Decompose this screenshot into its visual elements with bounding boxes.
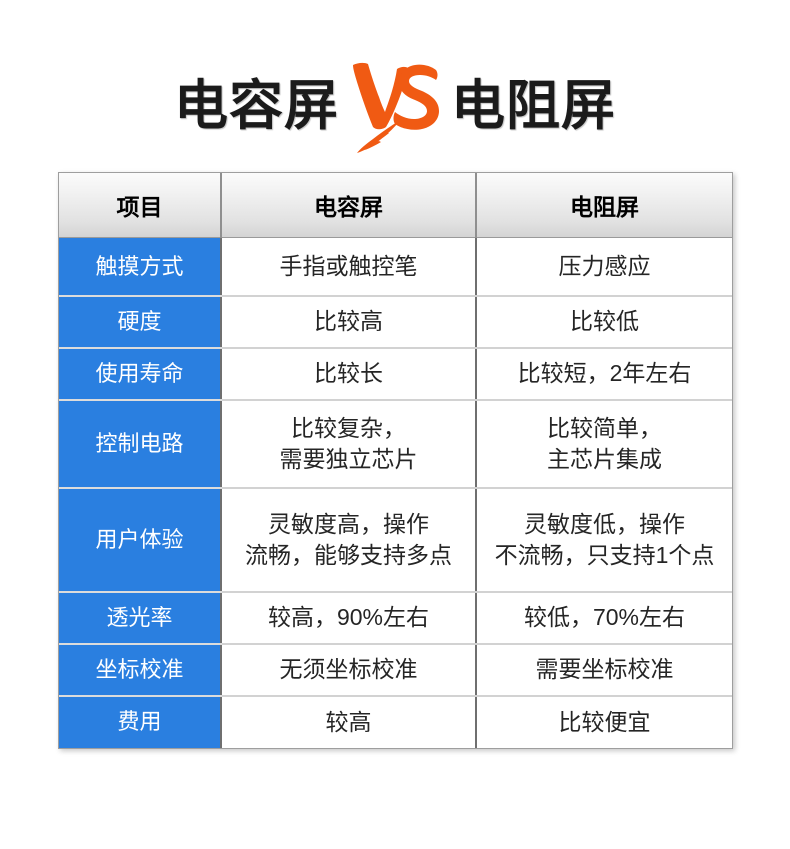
- table-row: 硬度 比较高 比较低: [59, 296, 732, 348]
- row-label: 费用: [59, 696, 221, 748]
- cell-resistive-text: 灵敏度低，操作 不流畅，只支持1个点: [477, 509, 732, 570]
- column-header-item: 项目: [59, 173, 221, 238]
- row-label-text: 使用寿命: [59, 359, 220, 388]
- row-label: 用户体验: [59, 488, 221, 592]
- cell-resistive-text: 较低，70%左右: [477, 602, 732, 632]
- row-label: 硬度: [59, 296, 221, 348]
- cell-capacitive: 无须坐标校准: [221, 644, 476, 696]
- cell-capacitive-text: 比较长: [222, 358, 475, 388]
- cell-resistive-text: 比较低: [477, 306, 732, 336]
- cell-resistive: 压力感应: [476, 238, 732, 296]
- table-row: 触摸方式 手指或触控笔 压力感应: [59, 238, 732, 296]
- row-label-text: 硬度: [59, 307, 220, 336]
- table-row: 费用 较高 比较便宜: [59, 696, 732, 748]
- comparison-infographic: 电容屏 电阻屏: [0, 0, 790, 849]
- cell-resistive-text: 比较短，2年左右: [477, 358, 732, 388]
- row-label-text: 用户体验: [59, 525, 220, 554]
- cell-resistive: 灵敏度低，操作 不流畅，只支持1个点: [476, 488, 732, 592]
- column-header-resistive: 电阻屏: [476, 173, 732, 238]
- table-row: 控制电路 比较复杂， 需要独立芯片 比较简单， 主芯片集成: [59, 400, 732, 488]
- cell-capacitive-text: 比较复杂， 需要独立芯片: [222, 413, 475, 474]
- row-label-text: 透光率: [59, 603, 220, 632]
- cell-capacitive-text: 灵敏度高，操作 流畅，能够支持多点: [222, 509, 475, 570]
- comparison-table: 项目 电容屏 电阻屏 触摸方式 手指或触控笔 压力感应: [59, 173, 732, 748]
- row-label-text: 坐标校准: [59, 655, 220, 684]
- cell-resistive-text: 比较便宜: [477, 707, 732, 737]
- table-header-row: 项目 电容屏 电阻屏: [59, 173, 732, 238]
- cell-resistive-text: 压力感应: [477, 251, 732, 281]
- cell-capacitive: 比较高: [221, 296, 476, 348]
- vs-icon: [343, 54, 447, 158]
- table-body: 触摸方式 手指或触控笔 压力感应 硬度 比较高: [59, 238, 732, 748]
- cell-capacitive-text: 无须坐标校准: [222, 654, 475, 684]
- row-label: 触摸方式: [59, 238, 221, 296]
- title-right-term: 电阻屏: [451, 79, 616, 133]
- cell-capacitive-text: 较高，90%左右: [222, 602, 475, 632]
- cell-capacitive-text: 较高: [222, 707, 475, 737]
- cell-resistive: 比较短，2年左右: [476, 348, 732, 400]
- cell-capacitive: 比较长: [221, 348, 476, 400]
- column-header-capacitive: 电容屏: [221, 173, 476, 238]
- cell-capacitive: 较高，90%左右: [221, 592, 476, 644]
- cell-resistive: 比较简单， 主芯片集成: [476, 400, 732, 488]
- row-label-text: 控制电路: [59, 429, 220, 458]
- table-row: 用户体验 灵敏度高，操作 流畅，能够支持多点 灵敏度低，操作 不流畅，只支持1个…: [59, 488, 732, 592]
- cell-capacitive: 较高: [221, 696, 476, 748]
- table-header: 项目 电容屏 电阻屏: [59, 173, 732, 238]
- title-left-term: 电容屏: [174, 79, 339, 133]
- cell-capacitive: 手指或触控笔: [221, 238, 476, 296]
- row-label: 使用寿命: [59, 348, 221, 400]
- row-label: 透光率: [59, 592, 221, 644]
- cell-capacitive-text: 比较高: [222, 306, 475, 336]
- table-row: 使用寿命 比较长 比较短，2年左右: [59, 348, 732, 400]
- cell-resistive: 较低，70%左右: [476, 592, 732, 644]
- row-label: 控制电路: [59, 400, 221, 488]
- cell-resistive: 比较低: [476, 296, 732, 348]
- row-label-text: 触摸方式: [59, 252, 220, 281]
- cell-resistive-text: 比较简单， 主芯片集成: [477, 413, 732, 474]
- cell-resistive-text: 需要坐标校准: [477, 654, 732, 684]
- table-row: 坐标校准 无须坐标校准 需要坐标校准: [59, 644, 732, 696]
- cell-resistive: 比较便宜: [476, 696, 732, 748]
- table-row: 透光率 较高，90%左右 较低，70%左右: [59, 592, 732, 644]
- comparison-table-container: 项目 电容屏 电阻屏 触摸方式 手指或触控笔 压力感应: [58, 172, 733, 749]
- cell-capacitive-text: 手指或触控笔: [222, 251, 475, 281]
- row-label: 坐标校准: [59, 644, 221, 696]
- cell-resistive: 需要坐标校准: [476, 644, 732, 696]
- row-label-text: 费用: [59, 707, 220, 736]
- cell-capacitive: 灵敏度高，操作 流畅，能够支持多点: [221, 488, 476, 592]
- page-title: 电容屏 电阻屏: [0, 48, 790, 163]
- cell-capacitive: 比较复杂， 需要独立芯片: [221, 400, 476, 488]
